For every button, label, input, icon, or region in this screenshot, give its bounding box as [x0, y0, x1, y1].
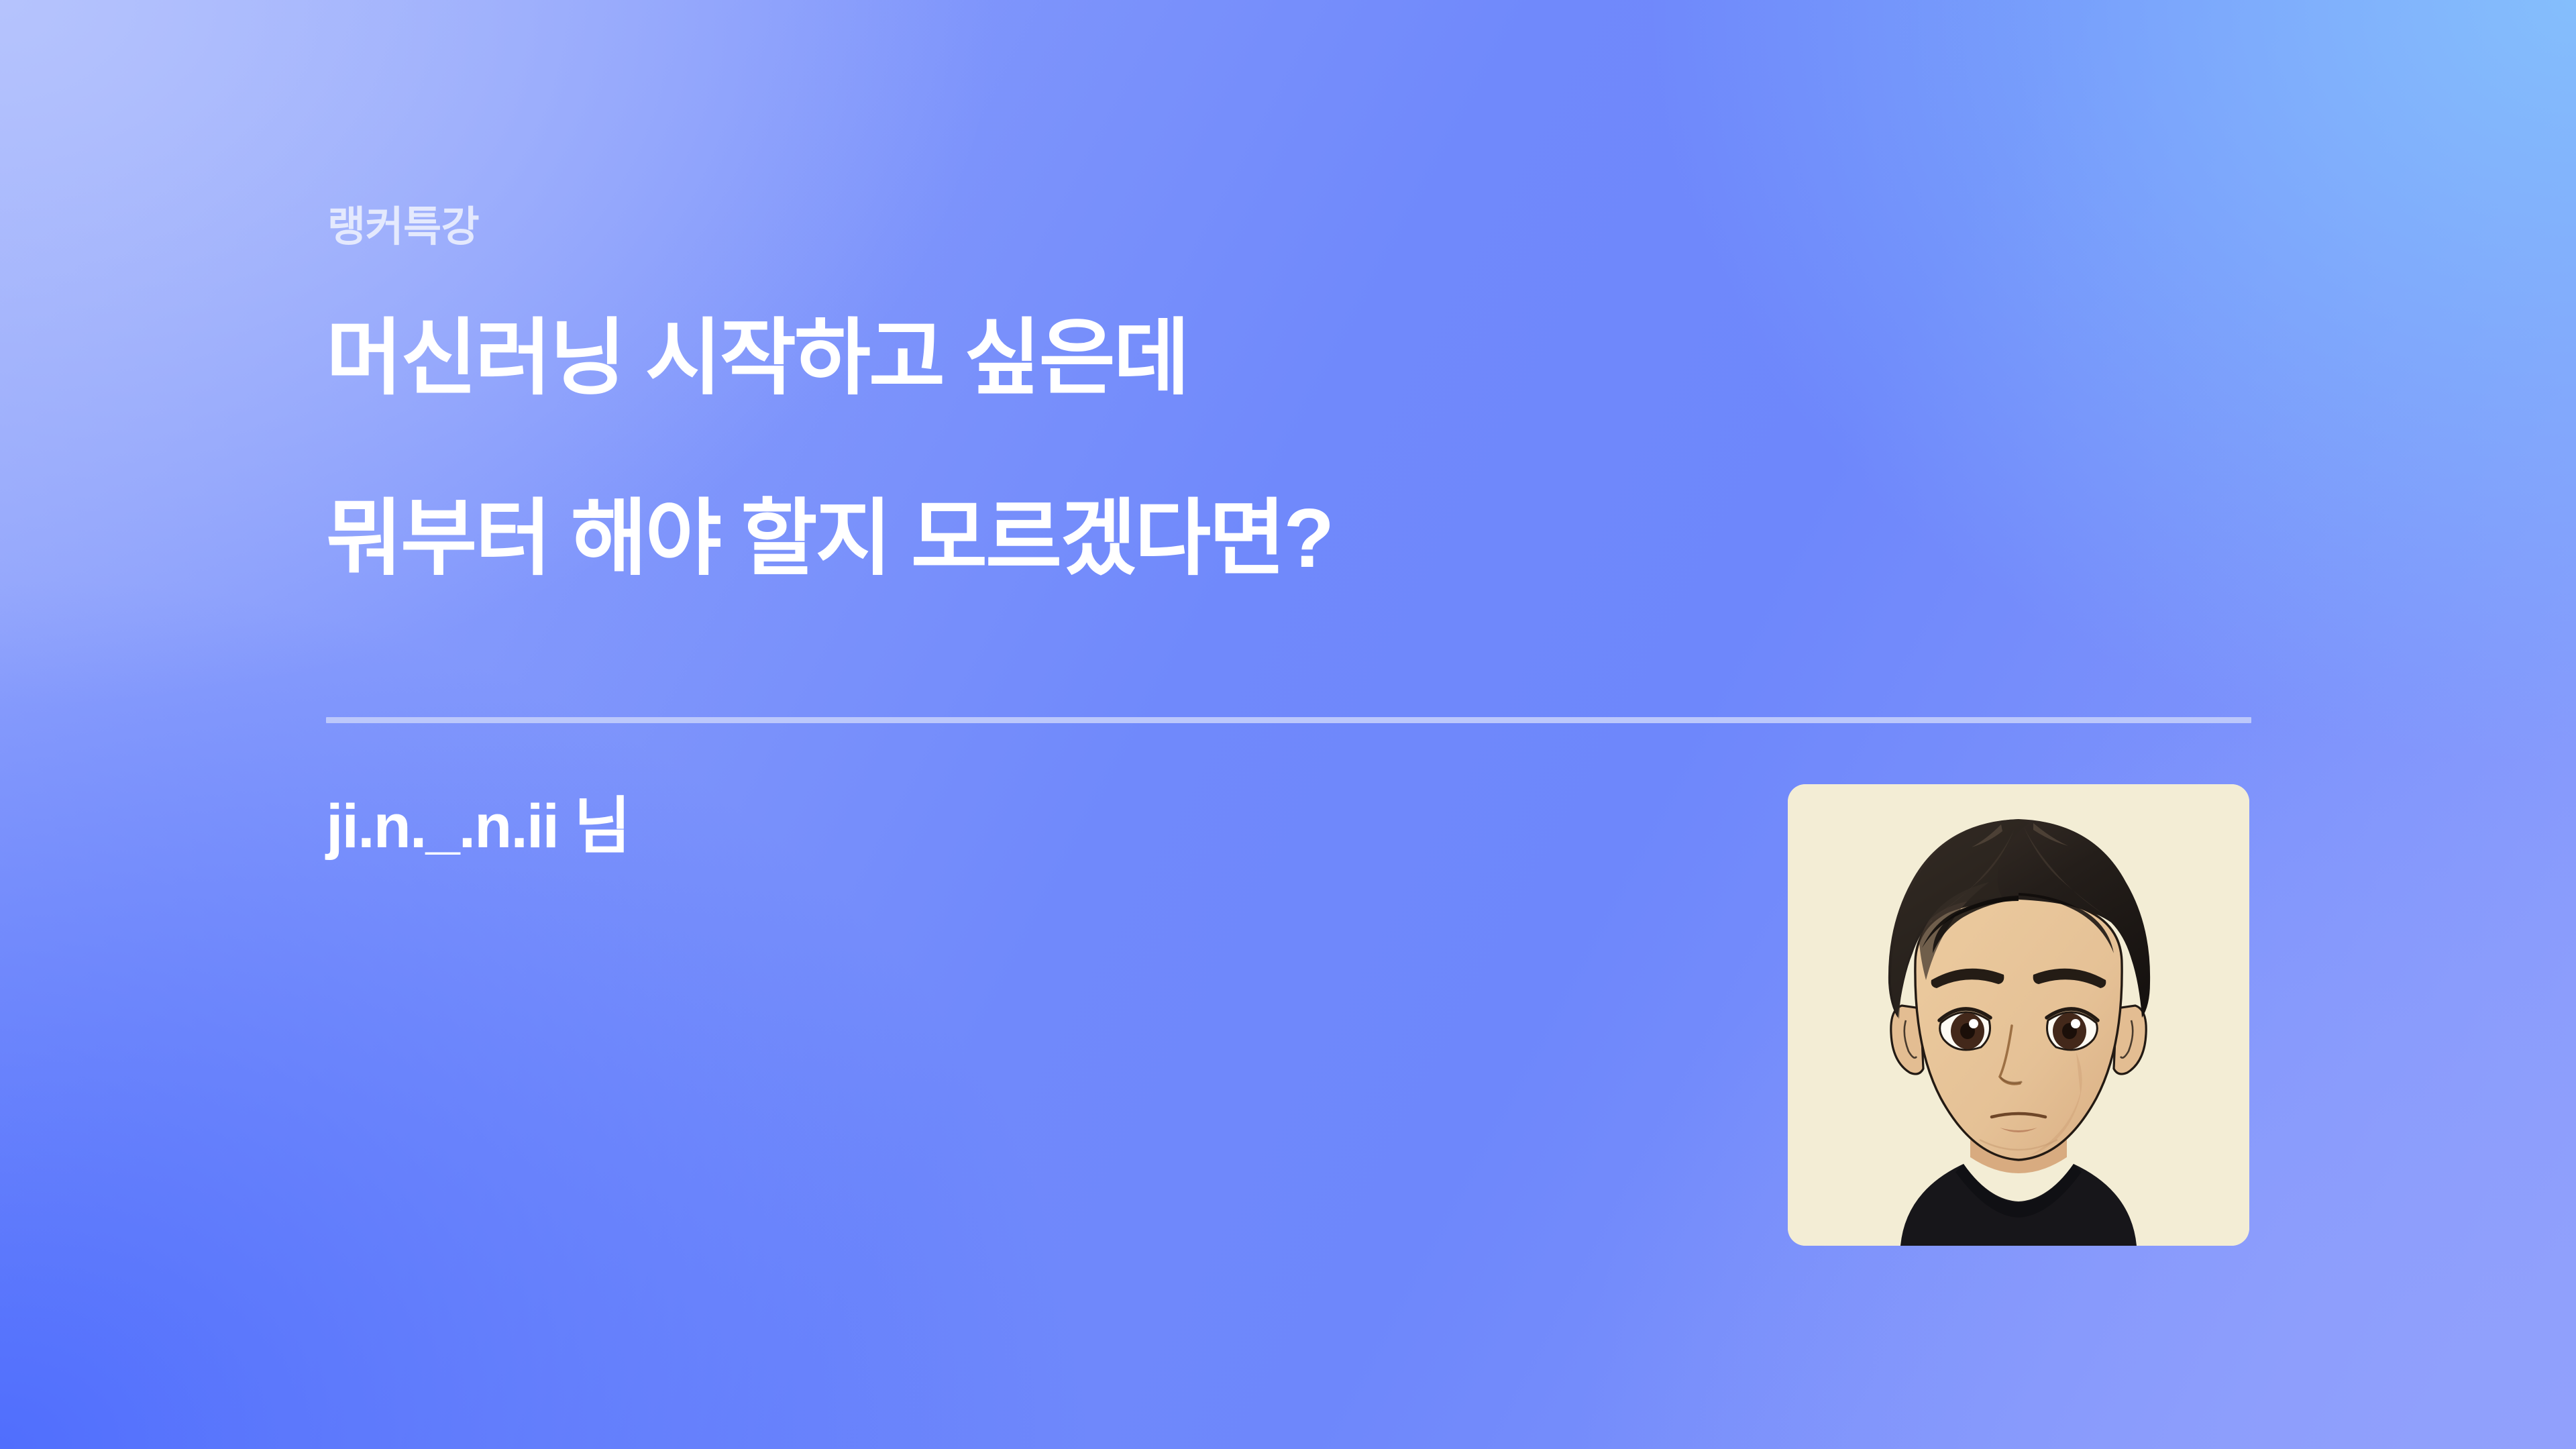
horizontal-divider: [326, 717, 2251, 723]
username-label: ji.n._.n.ii 님: [326, 792, 629, 863]
headline-line-2: 뭐부터 해야 할지 모르겠다면?: [326, 497, 1332, 580]
promo-banner: 랭커특강 머신러닝 시작하고 싶은데 뭐부터 해야 할지 모르겠다면? ji.n…: [0, 0, 2576, 1449]
avatar-illustration: [1788, 784, 2249, 1246]
page-title: 머신러닝 시작하고 싶은데 뭐부터 해야 할지 모르겠다면?: [326, 317, 1332, 580]
eyebrow-label: 랭커특강: [327, 203, 479, 251]
headline-line-1: 머신러닝 시작하고 싶은데: [326, 317, 1332, 400]
avatar: [1788, 784, 2249, 1246]
